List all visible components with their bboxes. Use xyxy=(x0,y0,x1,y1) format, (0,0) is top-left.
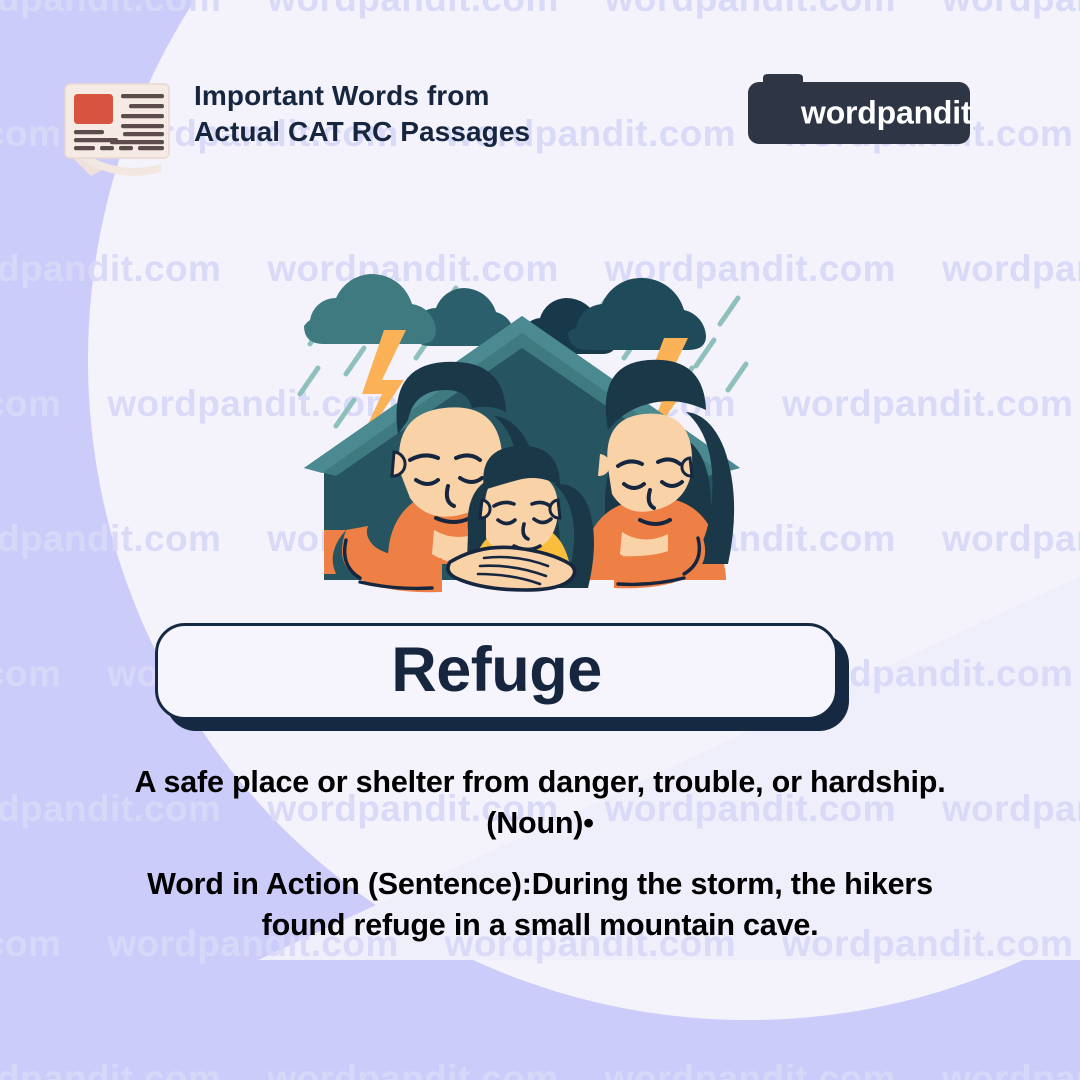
page-title: Important Words from Actual CAT RC Passa… xyxy=(194,78,530,150)
word-card[interactable]: Refuge xyxy=(155,623,838,720)
brand-logo[interactable]: wordpandit xyxy=(748,82,970,144)
text-block: A safe place or shelter from danger, tro… xyxy=(30,762,1050,945)
definition-line1: A safe place or shelter from danger, tro… xyxy=(30,762,1050,803)
page-title-line2: Actual CAT RC Passages xyxy=(194,114,530,150)
storm-cloud-left xyxy=(304,274,514,346)
definition-block: A safe place or shelter from danger, tro… xyxy=(30,762,1050,844)
sentence-line1: Word in Action (Sentence):During the sto… xyxy=(30,864,1050,905)
bookmark-icon xyxy=(761,74,805,152)
header: Important Words from Actual CAT RC Passa… xyxy=(0,62,1080,180)
brand-name: wordpandit xyxy=(801,95,971,132)
newspaper-icon xyxy=(57,72,183,180)
sentence-block: Word in Action (Sentence):During the sto… xyxy=(30,864,1050,946)
vocabulary-word: Refuge xyxy=(391,634,602,706)
definition-part-of-speech: (Noun)• xyxy=(30,803,1050,844)
illustration-family-shelter xyxy=(288,262,758,602)
page-title-line1: Important Words from xyxy=(194,80,489,111)
word-card-container: Refuge xyxy=(155,623,850,731)
sentence-line2: found refuge in a small mountain cave. xyxy=(30,905,1050,946)
